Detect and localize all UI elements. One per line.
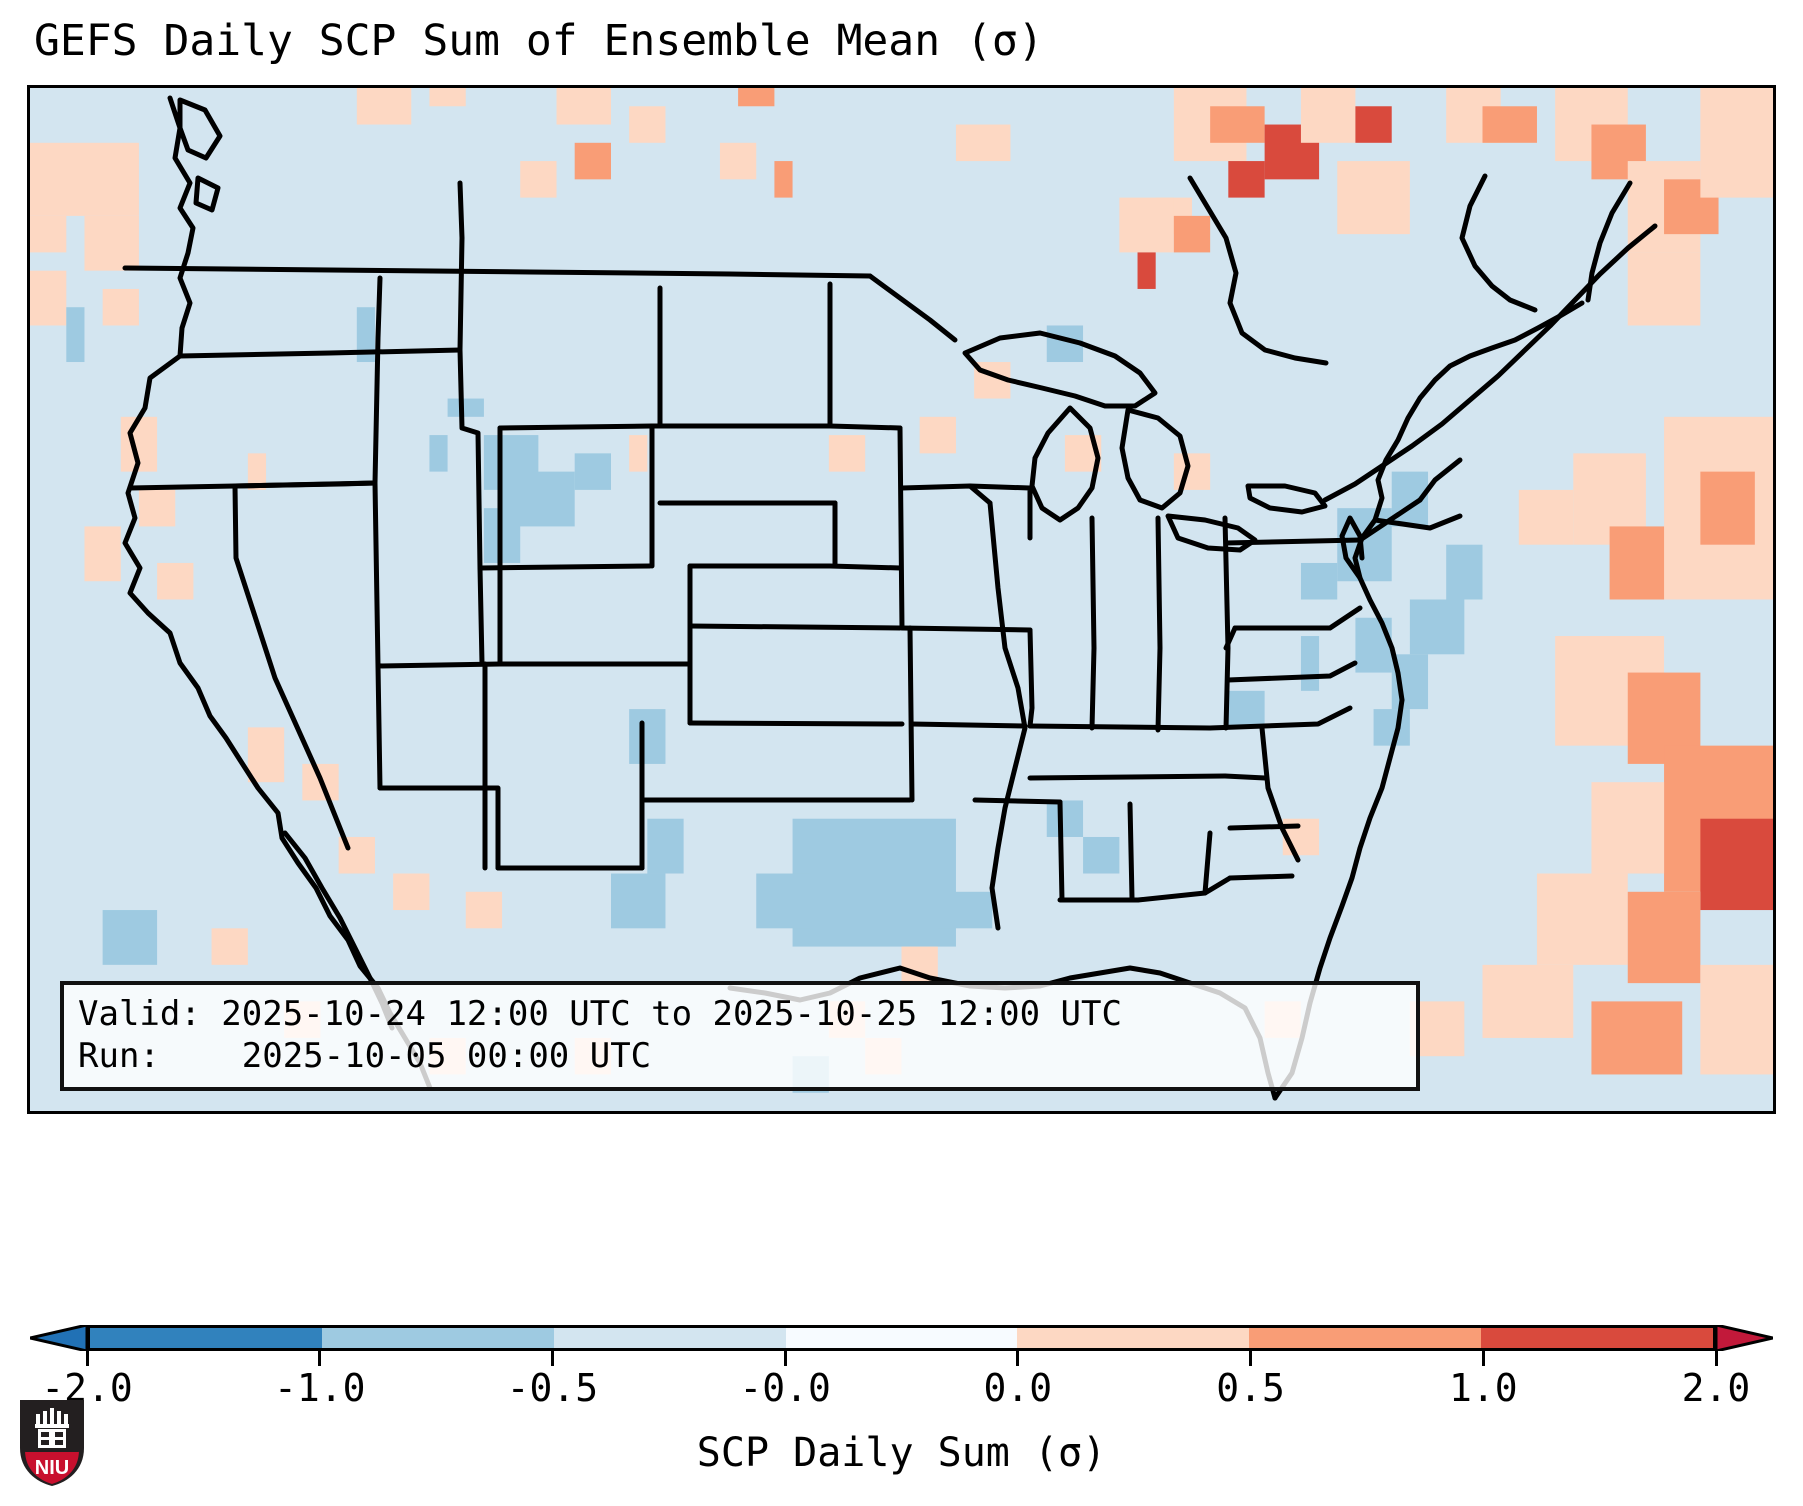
heatmap-cell [520, 161, 556, 198]
heatmap-cell [302, 764, 338, 801]
heatmap-cell [466, 892, 502, 929]
heatmap-cell [1483, 106, 1537, 143]
colorbar-segment-5 [1249, 1328, 1481, 1348]
heatmap-cell [1410, 600, 1464, 655]
heatmap-cell [1228, 161, 1264, 198]
heatmap-cell [1591, 782, 1664, 873]
colorbar-extend-high [1716, 1325, 1773, 1351]
colorbar-segment-2 [554, 1328, 786, 1348]
heatmap-cell [1119, 198, 1173, 253]
heatmap-cell [1392, 654, 1428, 709]
colorbar-tick-label-1: -1.0 [274, 1366, 366, 1410]
heatmap-cell [938, 892, 992, 929]
heatmap-grid [30, 88, 1773, 1111]
page-title: GEFS Daily SCP Sum of Ensemble Mean (σ) [34, 16, 1044, 66]
colorbar-tick-labels: -2.0-1.0-0.5-0.00.00.51.02.0 [27, 1366, 1776, 1416]
colorbar-tick-1 [318, 1351, 321, 1366]
colorbar-tick-label-7: 2.0 [1682, 1366, 1751, 1410]
heatmap-cell [103, 910, 157, 965]
heatmap-cell [429, 88, 465, 106]
heatmap-cell [629, 435, 647, 472]
colorbar-label: SCP Daily Sum (σ) [0, 1430, 1803, 1476]
colorbar-tick-4 [1016, 1351, 1019, 1366]
valid-line: Valid: 2025-10-24 12:00 UTC to 2025-10-2… [78, 993, 1402, 1035]
heatmap-cell [829, 435, 865, 472]
heatmap-cell [30, 271, 66, 326]
heatmap-cell [629, 106, 665, 143]
heatmap-cell [1628, 892, 1701, 983]
heatmap-cell [429, 435, 447, 472]
heatmap-cell [1392, 472, 1428, 527]
heatmap-cell [30, 216, 66, 253]
niu-logo-text: NIU [35, 1457, 69, 1479]
heatmap-cell [738, 88, 774, 106]
heatmap-cell [1374, 709, 1410, 746]
heatmap-cell [1174, 453, 1210, 490]
colorbar-tick-5 [1249, 1351, 1252, 1366]
heatmap-cell [84, 216, 138, 271]
heatmap-cell [139, 490, 175, 527]
colorbar-tick-0 [86, 1351, 89, 1366]
valid-run-annotation: Valid: 2025-10-24 12:00 UTC to 2025-10-2… [60, 981, 1420, 1091]
colorbar-tick-7 [1715, 1351, 1718, 1366]
heatmap-cell [121, 417, 157, 472]
colorbar-segment-0 [90, 1328, 322, 1348]
heatmap-cell [720, 143, 756, 180]
colorbar-segment-3 [786, 1328, 1018, 1348]
heatmap-cell [647, 819, 683, 874]
heatmap-cell [974, 362, 1010, 399]
heatmap-cell [66, 307, 84, 362]
colorbar-tick-label-4: 0.0 [984, 1366, 1053, 1410]
colorbar-tick-6 [1482, 1351, 1485, 1366]
heatmap-cell [393, 874, 429, 911]
heatmap-cell [448, 399, 484, 417]
heatmap-cell [956, 125, 1010, 162]
heatmap-cell [248, 727, 284, 782]
heatmap-cell [1700, 965, 1773, 1075]
heatmap-cell [575, 143, 611, 180]
colorbar-tick-label-3: -0.0 [739, 1366, 831, 1410]
heatmap-cell [1228, 691, 1264, 728]
heatmap-cell [1301, 88, 1355, 143]
heatmap-cell [103, 289, 139, 326]
heatmap-cell [339, 837, 375, 874]
heatmap-cell [30, 143, 139, 216]
heatmap-cell [1628, 252, 1701, 325]
heatmap-cell [1355, 618, 1391, 673]
heatmap-cell [1591, 1001, 1682, 1074]
colorbar-tick-label-6: 1.0 [1449, 1366, 1518, 1410]
heatmap-cell [611, 874, 665, 929]
heatmap-cell [1700, 819, 1773, 910]
colorbar-segment-4 [1017, 1328, 1249, 1348]
heatmap-cell [902, 947, 938, 984]
colorbar[interactable]: -2.0-1.0-0.5-0.00.00.51.02.0 [27, 1322, 1776, 1382]
heatmap-cell [1047, 800, 1083, 837]
map-panel: Valid: 2025-10-24 12:00 UTC to 2025-10-2… [27, 85, 1776, 1114]
heatmap-cell [1083, 837, 1119, 874]
colorbar-ticks [87, 1351, 1716, 1367]
heatmap-cell [1519, 490, 1573, 545]
heatmap-cell [920, 417, 956, 454]
heatmap-cell [1337, 161, 1410, 234]
heatmap-cell [793, 819, 956, 947]
heatmap-cell [357, 307, 375, 362]
heatmap-cell [629, 709, 665, 764]
heatmap-cell [1483, 965, 1574, 1038]
colorbar-tick-3 [784, 1351, 787, 1366]
heatmap-cell [1446, 545, 1482, 600]
heatmap-cell [212, 928, 248, 965]
niu-logo: NIU [16, 1396, 88, 1488]
colorbar-segments [87, 1325, 1716, 1351]
heatmap-cell [1700, 88, 1773, 198]
heatmap-cell [1537, 874, 1628, 965]
heatmap-cell [1337, 508, 1391, 581]
colorbar-tick-2 [551, 1351, 554, 1366]
heatmap-cell [557, 88, 611, 125]
heatmap-cell [1283, 819, 1319, 856]
heatmap-cell [1065, 435, 1101, 472]
colorbar-tick-label-2: -0.5 [507, 1366, 599, 1410]
colorbar-segment-6 [1481, 1328, 1713, 1348]
heatmap-cell [1210, 106, 1264, 143]
heatmap-cell [1355, 106, 1391, 143]
heatmap-cell [756, 874, 810, 929]
heatmap-cell [157, 563, 193, 600]
heatmap-cell [575, 453, 611, 490]
colorbar-extend-low [30, 1325, 87, 1351]
heatmap-cell [357, 88, 411, 125]
heatmap-cell [1301, 636, 1319, 691]
run-line: Run: 2025-10-05 00:00 UTC [78, 1035, 1402, 1077]
heatmap-cell [484, 508, 520, 563]
heatmap-cell [1174, 216, 1210, 253]
heatmap-cell [1047, 325, 1083, 362]
colorbar-tick-label-5: 0.5 [1216, 1366, 1285, 1410]
colorbar-segment-1 [322, 1328, 554, 1348]
heatmap-cell [774, 161, 792, 198]
heatmap-cell [84, 526, 120, 581]
heatmap-cell [1138, 252, 1156, 289]
heatmap-cell [248, 453, 266, 490]
heatmap-cell [1301, 563, 1337, 600]
heatmap-cell [1700, 472, 1754, 545]
